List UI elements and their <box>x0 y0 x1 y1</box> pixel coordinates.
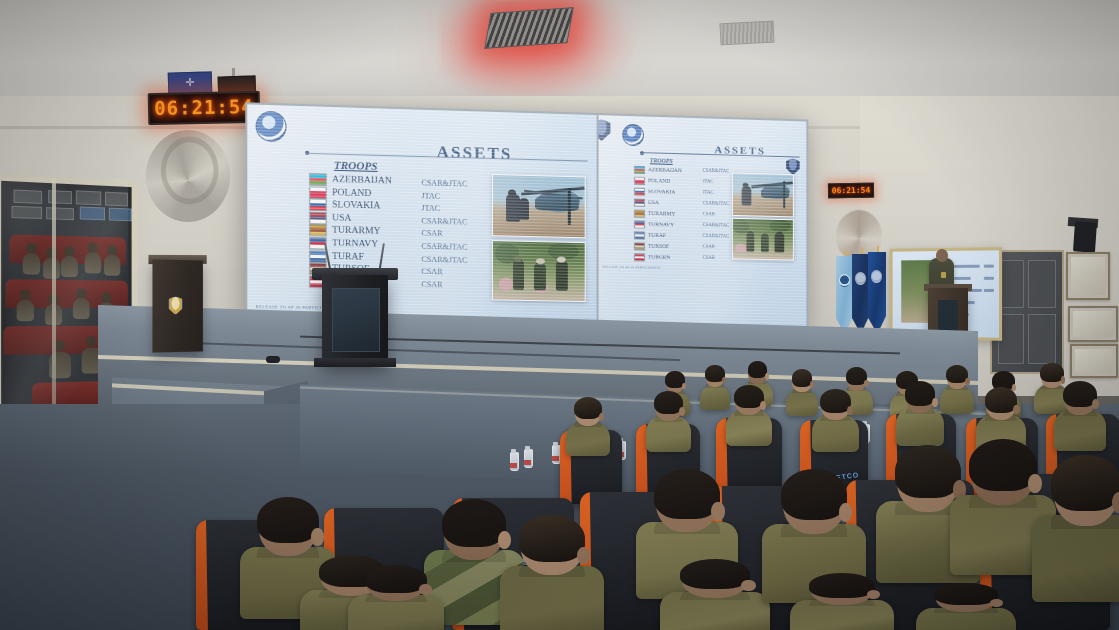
clock-time-text-right: 06:21:54 <box>832 186 871 196</box>
troop-row: POLAND <box>634 177 670 186</box>
asset-capability: CSAR <box>421 280 442 289</box>
person-hair <box>905 381 936 406</box>
wall-picture-frame <box>1068 306 1118 342</box>
country-name: TURNAVY <box>332 239 378 250</box>
water-bottle <box>524 449 533 468</box>
asset-capability: CSAR&JTAC <box>421 242 467 252</box>
uniform-patch <box>941 272 946 278</box>
audience-member <box>1032 456 1119 596</box>
troop-row: POLAND <box>309 186 371 200</box>
bottle-cap <box>511 449 516 453</box>
troop-row: TURGEN <box>634 253 670 262</box>
person-hair <box>365 565 426 593</box>
troop-row: TURNAVY <box>634 220 674 229</box>
bottle-label <box>524 460 531 465</box>
briefing-room-photo: ✛ 06:21:54 06:21:54 ASSETS TROOPS AZERBA… <box>0 0 1119 630</box>
country-name: SLOVAKIA <box>332 200 380 211</box>
water-bottle <box>510 452 519 471</box>
country-flag-icon <box>634 231 645 239</box>
slide-title: ASSETS <box>437 142 513 164</box>
audience-member <box>812 390 859 450</box>
person-ear <box>839 503 853 522</box>
country-flag-icon <box>309 199 326 212</box>
person-ear <box>722 377 726 383</box>
wall-picture-frame <box>1070 344 1118 378</box>
country-name: AZERBAIJAN <box>648 167 682 174</box>
person-ear <box>864 380 868 387</box>
person-ear <box>965 378 969 385</box>
asset-capability: CSAR <box>421 267 442 276</box>
person-ear <box>867 590 881 599</box>
country-flag-icon <box>634 253 645 261</box>
asset-capability: JTAC <box>703 190 714 195</box>
clock-time-text: 06:21:54 <box>154 96 254 120</box>
person-ear <box>682 383 686 389</box>
seat-trim <box>196 520 208 630</box>
person-hair <box>1051 455 1119 511</box>
country-name: TURARMY <box>648 211 675 218</box>
bottle-label <box>510 463 517 468</box>
lectern-confidence-monitor <box>332 288 380 352</box>
asset-capability: CSAR <box>703 256 715 261</box>
led-clock-right: 06:21:54 <box>828 183 874 199</box>
asset-capability: CSAR&JTAC <box>421 254 467 264</box>
country-flag-icon <box>634 220 645 228</box>
troop-row: TURARMY <box>634 210 675 219</box>
asset-capability: CSAR <box>703 212 715 217</box>
audience-member <box>916 584 1016 630</box>
person-ear <box>1013 405 1020 415</box>
person-ear <box>847 406 853 415</box>
speaker-lectern-base <box>314 358 396 367</box>
exercise-roundel-icon <box>256 111 287 142</box>
person-hair <box>574 397 602 419</box>
person-hair <box>257 497 318 543</box>
troop-row: TURSOF <box>634 242 669 251</box>
person-ear <box>577 547 591 565</box>
troop-row: SLOVAKIA <box>634 188 675 197</box>
eagle-emblem-left <box>146 130 230 222</box>
flag-emblem-icon <box>855 272 866 285</box>
person-hair <box>654 469 719 519</box>
eagle-crest-icon-2 <box>786 158 799 175</box>
person-hair <box>809 573 876 598</box>
audience-member <box>726 386 772 444</box>
flag-emblem-icon <box>839 274 850 287</box>
person-ear <box>760 401 766 410</box>
person-ear <box>419 584 431 595</box>
person-hair <box>680 559 750 589</box>
country-name: AZERBAIJAN <box>332 175 392 187</box>
ceiling-speaker <box>1073 221 1097 252</box>
asset-capability: CSAR&JTAC <box>703 234 730 240</box>
slide-footer-right: RELEASE TO AF 26 PARTICIPANTS <box>603 264 661 269</box>
person-ear <box>765 373 769 379</box>
audience-member <box>940 366 974 412</box>
troop-row: AZERBAIJAN <box>634 166 682 175</box>
country-name: USA <box>332 213 351 224</box>
country-flag-icon <box>309 250 326 263</box>
audience-member <box>566 398 610 454</box>
audience-member <box>348 566 444 630</box>
country-flag-icon <box>309 212 326 225</box>
flag-emblem-icon <box>871 270 882 283</box>
asset-capability: JTAC <box>421 191 440 201</box>
bottle-cap <box>525 446 530 450</box>
asset-capability: CSAR&JTAC <box>703 223 730 229</box>
wall-picture-frame <box>1066 252 1110 300</box>
country-flag-icon <box>634 188 645 196</box>
person-ear <box>311 528 323 545</box>
bottle-label <box>552 456 559 461</box>
country-name: TURNAVY <box>648 222 674 229</box>
troop-row: USA <box>634 199 659 208</box>
person-hair <box>969 439 1037 491</box>
country-flag-icon <box>634 210 645 218</box>
screen-panel-left: ASSETS TROOPS AZERBAIJANPOLANDSLOVAKIAUS… <box>245 102 598 331</box>
asset-capability: CSAR <box>421 229 442 239</box>
country-flag-icon <box>634 166 645 174</box>
person-ear <box>990 599 1003 607</box>
troop-row: TURAF <box>634 231 666 240</box>
bottle-cap <box>553 442 558 446</box>
audience-member <box>660 560 770 630</box>
country-name: TURAF <box>648 233 666 239</box>
audience-member <box>1054 382 1106 448</box>
eagle-crest-icon <box>597 119 611 141</box>
person-ear <box>932 398 938 407</box>
troop-row: TURAF <box>309 250 364 263</box>
person-ear <box>679 407 685 416</box>
country-name: SLOVAKIA <box>648 189 675 196</box>
troop-row: SLOVAKIA <box>309 199 380 213</box>
helicopter-boarding-photo-right <box>732 172 794 217</box>
country-flag-icon <box>634 242 645 250</box>
floor-monitor-box <box>266 356 280 363</box>
exercise-roundel-icon-2 <box>622 124 644 146</box>
asset-capability: CSAR&JTAC <box>703 201 730 207</box>
country-flag-icon <box>634 177 645 185</box>
country-name: USA <box>648 200 659 206</box>
audience-member <box>790 574 894 630</box>
country-flag-icon <box>634 199 645 207</box>
country-flag-icon <box>309 224 326 237</box>
troop-row: TURNAVY <box>309 237 378 251</box>
person-hair <box>519 515 586 562</box>
person-hair <box>442 499 506 547</box>
briefing-officer-head <box>936 249 948 262</box>
troop-row: TURARMY <box>309 224 380 238</box>
person-ear <box>810 381 814 388</box>
country-name: POLAND <box>648 178 670 185</box>
person-ear <box>1092 399 1099 409</box>
country-flag-icon <box>309 186 326 199</box>
person-ear <box>711 502 724 521</box>
country-name: TURAF <box>332 251 364 262</box>
country-name: TURGEN <box>648 255 670 261</box>
nato-star-icon: ✛ <box>185 77 195 88</box>
audience-member <box>896 382 944 444</box>
person-hair <box>934 583 998 605</box>
helicopter-boarding-photo <box>492 174 586 238</box>
country-name: TURARMY <box>332 226 381 237</box>
audience-member <box>500 516 604 630</box>
field-operation-photo <box>492 240 586 302</box>
asset-capability: CSAR&JTAC <box>703 169 730 175</box>
asset-capability: CSAR <box>703 245 715 250</box>
screen-panel-right: ASSETS TROOPS AZERBAIJANPOLANDSLOVAKIAUS… <box>597 113 809 334</box>
country-flag-icon <box>309 173 326 186</box>
asset-capability: JTAC <box>703 180 714 185</box>
ceiling-vent <box>719 21 774 46</box>
person-hair <box>781 469 848 520</box>
asset-capability: CSAR&JTAC <box>421 178 467 188</box>
troops-header: TROOPS <box>334 160 378 173</box>
person-ear <box>741 580 755 591</box>
troops-header-right: TROOPS <box>650 158 673 165</box>
asset-capability: CSAR&JTAC <box>421 216 467 226</box>
troop-row: USA <box>309 212 351 225</box>
person-ear <box>599 413 605 421</box>
audience-member <box>646 392 691 450</box>
field-operation-photo-right <box>732 218 794 261</box>
country-name: TURSOF <box>648 244 669 250</box>
led-clock-left: 06:21:54 <box>148 91 261 125</box>
asset-capability: JTAC <box>421 204 440 214</box>
country-name: POLAND <box>332 188 371 199</box>
ceiling-vent-red-lit <box>484 7 574 49</box>
